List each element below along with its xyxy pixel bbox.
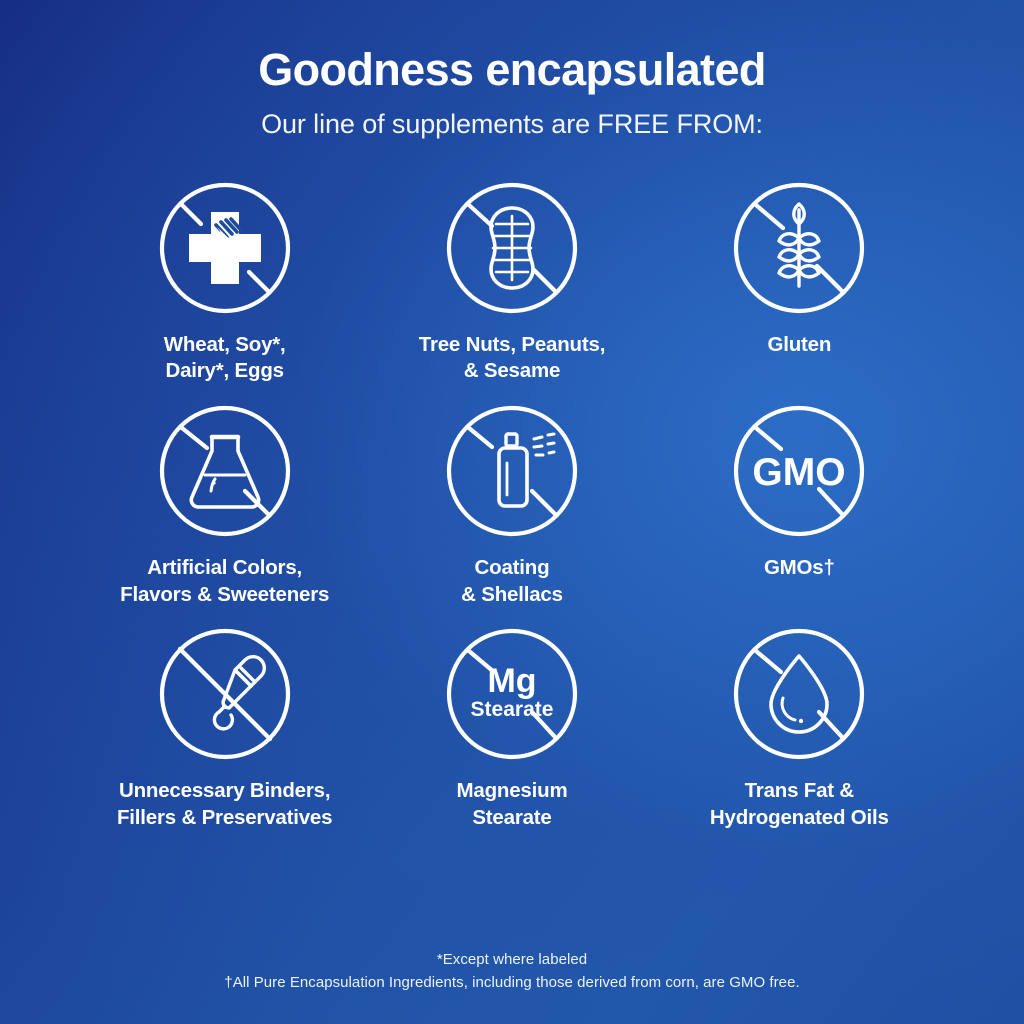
grid-item-label: Artificial Colors, Flavors & Sweeteners	[120, 555, 329, 608]
grid-item-label: Magnesium Stearate	[457, 778, 568, 831]
stearate-icon-subtext: Stearate	[471, 698, 554, 721]
no-wheat-stalk-icon	[731, 180, 867, 316]
footnotes: *Except where labeled †All Pure Encapsul…	[0, 948, 1024, 995]
header: Goodness encapsulated Our line of supple…	[0, 0, 1024, 140]
page-title: Goodness encapsulated	[0, 46, 1024, 95]
no-gmo-text-icon: GMO	[731, 403, 867, 539]
grid-item-coating: Coating & Shellacs	[368, 403, 655, 608]
footnote-dagger: †All Pure Encapsulation Ingredients, inc…	[0, 971, 1024, 994]
footnote-asterisk: *Except where labeled	[0, 948, 1024, 971]
grid-item-label: Gluten	[767, 332, 831, 359]
grid-item-gmo: GMO GMOs†	[656, 403, 943, 608]
grid-item-label: Coating & Shellacs	[461, 555, 563, 608]
no-mg-stearate-text-icon: Mg Stearate	[444, 626, 580, 762]
grid-item-label: Unnecessary Binders, Fillers & Preservat…	[117, 778, 332, 831]
grid-item-magnesium-stearate: Mg Stearate Magnesium Stearate	[368, 626, 655, 831]
grid-item-label: Trans Fat & Hydrogenated Oils	[710, 778, 889, 831]
no-flask-icon	[157, 403, 293, 539]
grid-item-artificial-colors: Artificial Colors, Flavors & Sweeteners	[81, 403, 368, 608]
page-subtitle: Our line of supplements are FREE FROM:	[0, 109, 1024, 140]
grid-item-trans-fat: Trans Fat & Hydrogenated Oils	[656, 626, 943, 831]
no-allergens-cross-fork-icon	[157, 180, 293, 316]
grid-item-nuts: Tree Nuts, Peanuts, & Sesame	[368, 180, 655, 385]
free-from-infographic: Goodness encapsulated Our line of supple…	[0, 0, 1024, 1024]
no-oil-droplet-icon	[731, 626, 867, 762]
grid-item-binders: Unnecessary Binders, Fillers & Preservat…	[81, 626, 368, 831]
no-spray-can-icon	[444, 403, 580, 539]
no-dropper-icon	[157, 626, 293, 762]
grid-item-label: Tree Nuts, Peanuts, & Sesame	[419, 332, 605, 385]
grid-item-allergens: Wheat, Soy*, Dairy*, Eggs	[81, 180, 368, 385]
grid-item-gluten: Gluten	[656, 180, 943, 385]
free-from-grid: Wheat, Soy*, Dairy*, Eggs	[81, 180, 943, 832]
gmo-icon-text: GMO	[753, 451, 846, 494]
mg-icon-text: Mg	[487, 662, 536, 700]
grid-item-label: GMOs†	[764, 555, 835, 582]
no-peanut-icon	[444, 180, 580, 316]
grid-item-label: Wheat, Soy*, Dairy*, Eggs	[164, 332, 286, 385]
